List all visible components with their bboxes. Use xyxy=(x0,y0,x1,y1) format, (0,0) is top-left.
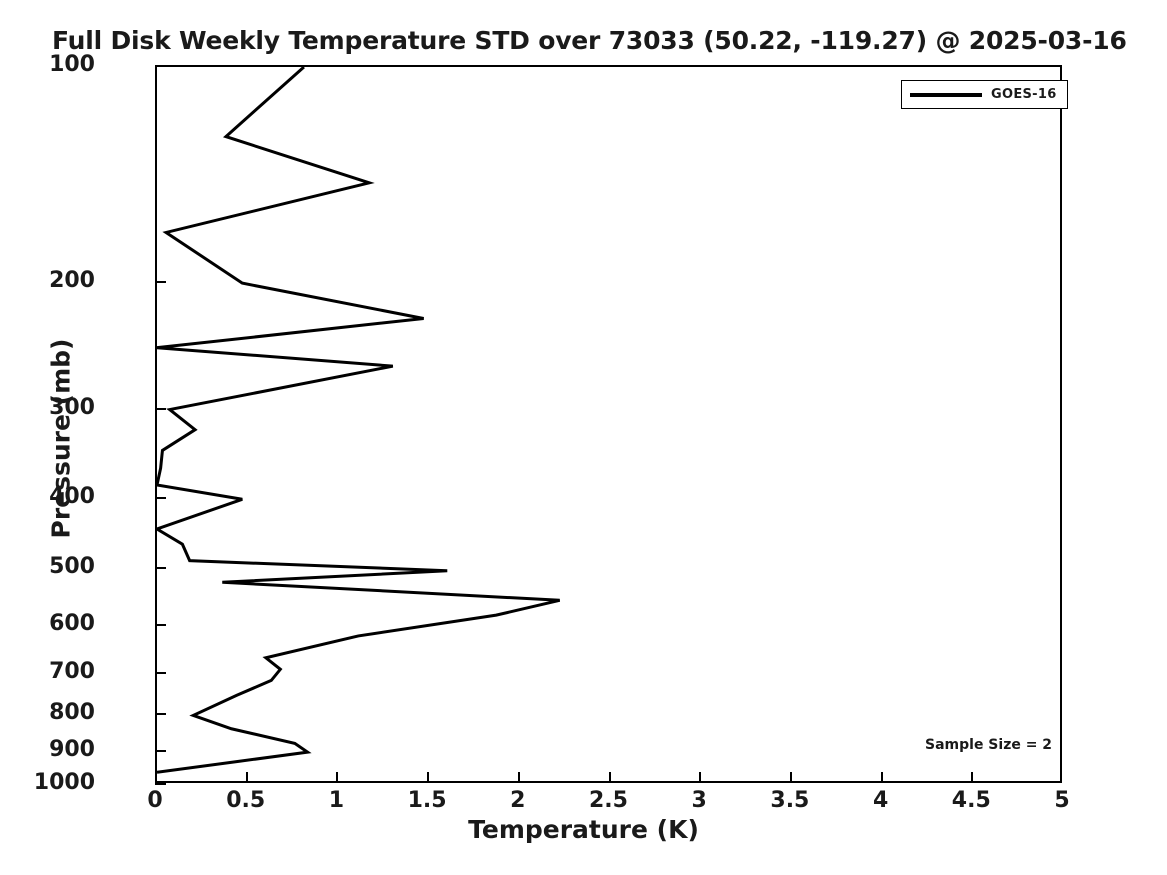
legend-label-goes-16: GOES-16 xyxy=(991,87,1057,102)
line-series-goes-16 xyxy=(157,67,560,772)
y-tick-label-800: 800 xyxy=(0,700,95,725)
x-tick-label-5: 5 xyxy=(1002,788,1122,813)
page-title: Full Disk Weekly Temperature STD over 73… xyxy=(52,26,1162,55)
data-series-layer xyxy=(157,67,1064,785)
sample-size-annotation: Sample Size = 2 xyxy=(925,737,1052,753)
y-tick-label-600: 600 xyxy=(0,611,95,636)
y-tick-label-500: 500 xyxy=(0,554,95,579)
y-tick-label-100: 100 xyxy=(0,52,95,77)
y-tick-label-400: 400 xyxy=(0,484,95,509)
y-tick-label-1000: 1000 xyxy=(0,770,95,795)
y-tick-label-900: 900 xyxy=(0,737,95,762)
chart-figure: Full Disk Weekly Temperature STD over 73… xyxy=(0,0,1167,875)
y-tick-label-700: 700 xyxy=(0,659,95,684)
y-tick-label-200: 200 xyxy=(0,268,95,293)
legend-line-swatch-icon xyxy=(910,93,982,97)
plot-area xyxy=(155,65,1062,783)
y-tick-label-300: 300 xyxy=(0,395,95,420)
x-axis-label: Temperature (K) xyxy=(0,815,1167,844)
legend: GOES-16 xyxy=(901,80,1068,109)
